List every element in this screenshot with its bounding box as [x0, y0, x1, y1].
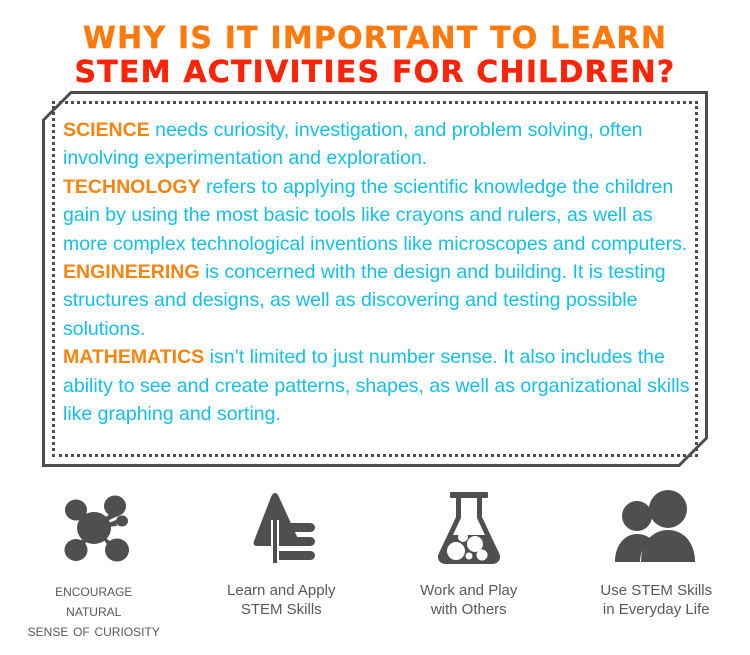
keyword-mathematics: MATHEMATICS: [63, 346, 204, 368]
content-panel: SCIENCE needs curiosity, investigation, …: [41, 90, 709, 468]
page-title: Why is it important to learn STEM activi…: [0, 0, 750, 90]
molecule-icon: [52, 487, 136, 569]
panel-body-text: SCIENCE needs curiosity, investigation, …: [63, 116, 695, 428]
benefit-caption-curiosity: Encourage Natural Sense of Curiosity: [28, 581, 160, 641]
benefit-item-learn-apply: Learn and Apply STEM Skills: [188, 487, 376, 641]
people-icon: [613, 487, 699, 569]
keyword-science: SCIENCE: [63, 119, 150, 141]
paragraph-mathematics: MATHEMATICS isn’t limited to just number…: [63, 343, 695, 428]
benefit-item-everyday-life: Use STEM Skills in Everyday Life: [563, 487, 750, 641]
title-line-1: Why is it important to learn: [0, 22, 750, 56]
benefit-caption-everyday-life: Use STEM Skills in Everyday Life: [600, 581, 712, 619]
benefit-caption-work-play: Work and Play with Others: [420, 581, 517, 619]
benefit-item-work-play: Work and Play with Others: [375, 487, 563, 641]
benefit-item-curiosity: Encourage Natural Sense of Curiosity: [0, 487, 188, 641]
panel-inner: SCIENCE needs curiosity, investigation, …: [41, 90, 709, 468]
paragraph-engineering: ENGINEERING is concerned with the design…: [63, 258, 695, 343]
keyword-engineering: ENGINEERING: [63, 261, 200, 283]
keyword-technology: TECHNOLOGY: [63, 176, 201, 198]
paragraph-technology: TECHNOLOGY refers to applying the scient…: [63, 173, 695, 258]
benefit-caption-learn-apply: Learn and Apply STEM Skills: [227, 581, 335, 619]
benefits-icon-row: Encourage Natural Sense of Curiosity Lea…: [0, 487, 750, 641]
pencil-book-icon: [245, 487, 317, 569]
title-line-2: STEM activities for children?: [0, 56, 750, 90]
flask-icon: [436, 487, 502, 569]
paragraph-science-text: needs curiosity, investigation, and prob…: [63, 119, 643, 169]
paragraph-science: SCIENCE needs curiosity, investigation, …: [63, 116, 695, 173]
